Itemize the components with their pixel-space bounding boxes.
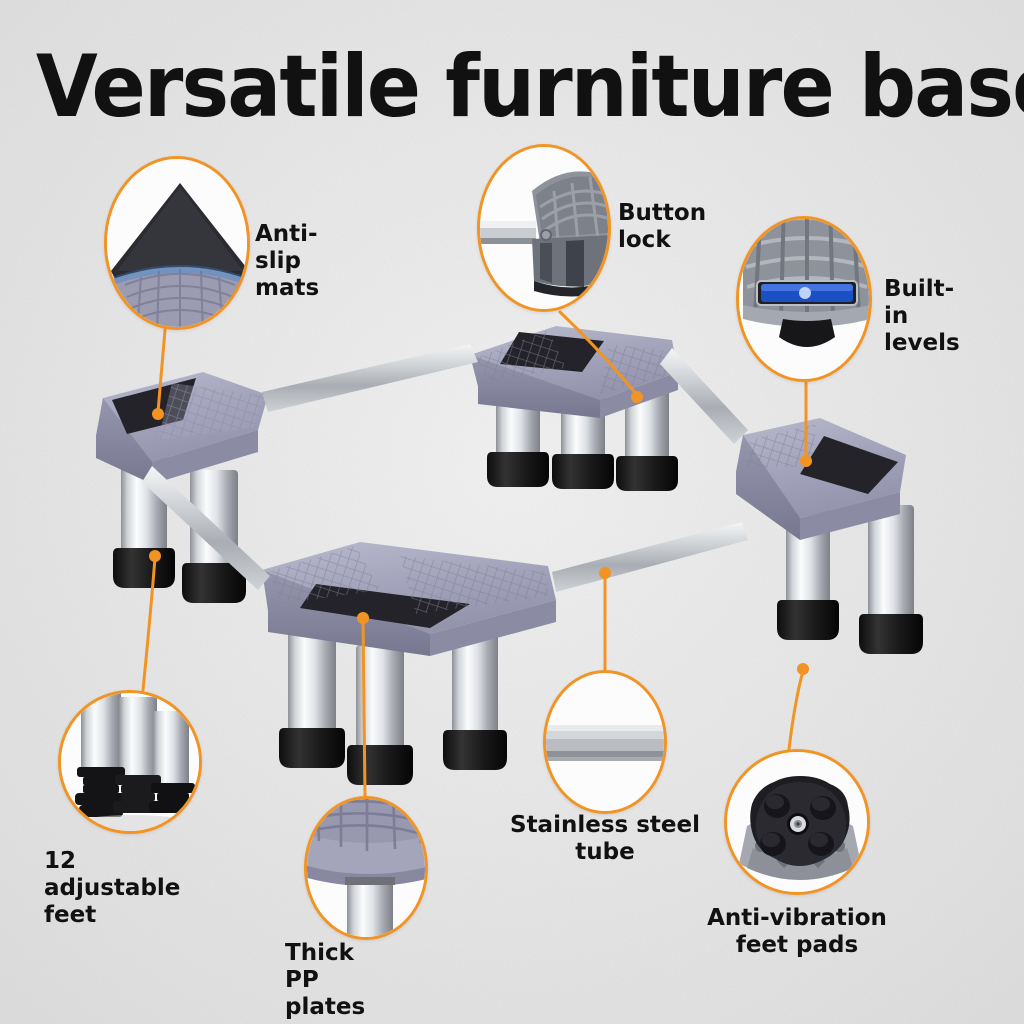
leader-dot-built-in-levels — [800, 455, 812, 467]
callout-label-built-in-levels: Built-in levels — [884, 276, 960, 357]
callout-label-stainless-steel-tube: Stainless steel tube — [505, 812, 705, 866]
leader-12-adjustable-feet — [143, 558, 155, 690]
leader-dot-12-adjustable-feet — [149, 550, 161, 562]
leader-thick-pp-plates — [363, 620, 365, 796]
leader-anti-vibration — [789, 671, 803, 749]
callout-label-anti-slip-mats: Anti-slip mats — [255, 221, 319, 302]
callout-label-thick-pp-plates: Thick PP plates — [285, 940, 365, 1021]
leader-dot-stainless-steel-tube — [599, 567, 611, 579]
infographic-stage: Versatile furniture base — [0, 0, 1024, 1024]
anti-slip-mat-icon — [107, 159, 250, 330]
pp-plate-icon — [307, 799, 428, 940]
button-lock-icon — [480, 147, 611, 312]
leader-anti-slip-mats — [158, 330, 165, 412]
page-title: Versatile furniture base — [36, 44, 988, 130]
leader-dot-anti-vibration — [797, 663, 809, 675]
bubble-anti-slip-mats — [104, 156, 250, 330]
callout-label-12-adjustable-feet: 12 adjustable feet — [44, 848, 180, 929]
bubble-thick-pp-plates — [304, 796, 428, 940]
bubble-built-in-levels — [736, 216, 872, 382]
callout-label-button-lock: Button lock — [618, 200, 706, 254]
bubble-level-icon — [739, 219, 872, 382]
steel-tube-icon — [546, 673, 667, 814]
foot-pad-icon — [727, 752, 870, 895]
bubble-stainless-steel-tube — [543, 670, 667, 814]
adjustable-feet-icon — [61, 693, 202, 834]
leader-button-lock — [560, 312, 637, 395]
bubble-anti-vibration-feet-pads — [724, 749, 870, 895]
bubble-12-adjustable-feet — [58, 690, 202, 834]
leader-dot-thick-pp-plates — [357, 612, 369, 624]
leader-dot-anti-slip-mats — [152, 408, 164, 420]
leader-dot-button-lock — [631, 391, 643, 403]
bubble-button-lock — [477, 144, 611, 312]
callout-label-anti-vibration-feet-pads: Anti-vibration feet pads — [697, 905, 897, 959]
